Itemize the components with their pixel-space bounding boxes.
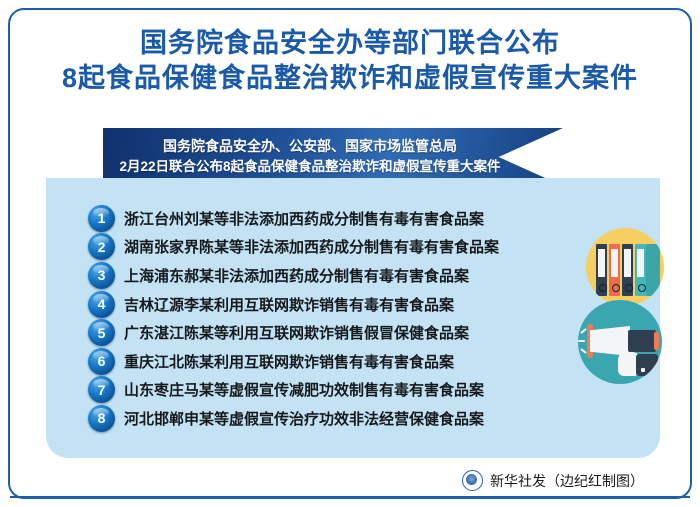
case-number: 8 [98, 411, 106, 425]
cuff-button [641, 368, 645, 372]
case-title: 河北邯郸申某等虚假宣传治疗功效非法经营保健食品案 [124, 408, 484, 429]
case-list: 1 浙江台州刘某等非法添加西药成分制售有毒有害食品案 2 湖南张家界陈某等非法添… [88, 204, 558, 433]
sound-spark-icon [578, 340, 585, 342]
list-item: 2 湖南张家界陈某等非法添加西药成分制售有毒有害食品案 [88, 233, 558, 262]
case-number-badge: 2 [88, 233, 115, 260]
sound-spark-icon [580, 328, 587, 334]
megaphone-illustration [578, 300, 662, 384]
bottom-divider [10, 496, 690, 498]
case-number-badge: 8 [88, 405, 115, 432]
case-number-badge: 1 [88, 205, 115, 232]
list-item: 4 吉林辽源李某利用互联网欺诈销售有毒有害食品案 [88, 290, 558, 319]
case-number: 1 [98, 211, 106, 225]
case-number-badge: 4 [88, 291, 115, 318]
megaphone-body [628, 330, 656, 352]
case-number: 6 [98, 354, 106, 368]
binder-2 [609, 244, 620, 296]
sound-spark-icon [580, 348, 587, 354]
case-title: 吉林辽源李某利用互联网欺诈销售有毒有害食品案 [124, 294, 454, 315]
case-number-badge: 7 [88, 376, 115, 403]
case-title: 上海浦东郝某非法添加西药成分制售有毒有害食品案 [124, 265, 469, 286]
case-title: 湖南张家界陈某等非法添加西药成分制售有毒有害食品案 [124, 236, 499, 257]
case-number-badge: 5 [88, 319, 115, 346]
binder-3 [622, 244, 633, 296]
case-number: 4 [98, 297, 106, 311]
case-number-badge: 6 [88, 348, 115, 375]
page-title: 国务院食品安全办等部门联合公布 8起食品保健食品整治欺诈和虚假宣传重大案件 [0, 26, 700, 96]
subtitle-line-1: 国务院食品安全办、公安部、国家市场监管总局 [163, 136, 457, 157]
list-item: 1 浙江台州刘某等非法添加西药成分制售有毒有害食品案 [88, 204, 558, 233]
title-line-1: 国务院食品安全办等部门联合公布 [0, 26, 700, 61]
list-item: 6 重庆江北陈某利用互联网欺诈销售有毒有害食品案 [88, 347, 558, 376]
case-number-badge: 3 [88, 262, 115, 289]
binders-illustration [586, 228, 664, 306]
case-title: 山东枣庄马某等虚假宣传减肥功效制售有毒有害食品案 [124, 379, 484, 400]
binder-1 [596, 244, 607, 296]
case-title: 重庆江北陈某利用互联网欺诈销售有毒有害食品案 [124, 351, 454, 372]
list-item: 3 上海浦东郝某非法添加西药成分制售有毒有害食品案 [88, 261, 558, 290]
binder-4 [635, 244, 646, 296]
title-line-2: 8起食品保健食品整治欺诈和虚假宣传重大案件 [0, 61, 700, 96]
sleeve-cuff [636, 354, 658, 376]
list-item: 5 广东湛江陈某等利用互联网欺诈销售假冒保健食品案 [88, 318, 558, 347]
infographic-poster: 国务院食品安全办等部门联合公布 8起食品保健食品整治欺诈和虚假宣传重大案件 国务… [0, 0, 700, 507]
list-item: 7 山东枣庄马某等虚假宣传减肥功效制售有毒有害食品案 [88, 376, 558, 405]
binder-5 [646, 244, 660, 296]
case-number: 7 [98, 383, 106, 397]
binder-folders-icon [596, 244, 658, 296]
megaphone-cap [654, 332, 659, 350]
subtitle-line-2: 2月22日联合公布8起食品保健食品整治欺诈和虚假宣传重大案件 [119, 157, 500, 177]
list-item: 8 河北邯郸申某等虚假宣传治疗功效非法经营保健食品案 [88, 404, 558, 433]
case-title: 广东湛江陈某等利用互联网欺诈销售假冒保健食品案 [124, 322, 469, 343]
case-number: 3 [98, 268, 106, 282]
case-title: 浙江台州刘某等非法添加西药成分制售有毒有害食品案 [124, 208, 484, 229]
case-number: 2 [98, 240, 106, 254]
case-number: 5 [98, 326, 106, 340]
xinhua-logo-icon [462, 470, 483, 491]
credit-text: 新华社发（边纪红制图） [490, 471, 644, 491]
footer-credit: 新华社发（边纪红制图） [462, 470, 644, 491]
